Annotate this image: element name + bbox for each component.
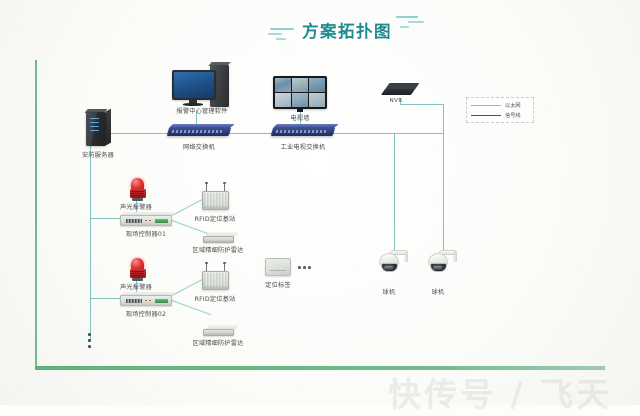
camera-glass [433,266,442,270]
video-wall-stand [297,109,303,112]
label-controller-2: 现场控制器02 [126,309,166,318]
label-security-server: 安防服务器 [82,150,114,159]
controller-port-panel [126,219,142,223]
label-camera-2: 球机 [432,287,445,296]
controller-port-panel [126,299,142,303]
label-radar-1: 区域精细防护雷达 [192,245,243,254]
legend-swatch-ethernet [471,105,501,106]
link-bus-to-controller-2 [90,298,122,299]
controller-led-1 [145,220,147,222]
controller-led-2 [149,300,151,302]
label-positioning-tag: 定位标签 [265,280,291,289]
rfid-antenna-cap-right [223,182,226,184]
camera-glass [384,266,393,270]
label-controller-1: 现场控制器01 [126,229,166,238]
controller-green-panel [155,219,168,223]
frame-bottom-border [35,366,605,370]
legend-item-signal: 信号线 [471,112,521,119]
radar-chassis-icon [203,236,234,243]
positioning-tag-strip [270,270,286,271]
label-tv-switch: 工业电视交换机 [281,142,326,151]
watermark: 快传号 / 飞天 [388,368,612,416]
link-bus-to-controller-1 [90,218,122,219]
controller-led-1 [145,300,147,302]
alarm-beacon-foot [132,278,143,281]
topology-diagram-canvas: 方案拓扑图 [0,0,640,405]
link-bus-to-nvr [443,104,444,134]
link-server-to-switch [108,133,174,134]
server-side-face [106,109,111,146]
label-radar-2: 区域精细防护雷达 [192,338,243,347]
tag-ellipsis [298,266,311,269]
controller-led-2 [149,220,151,222]
server-chassis-icon [86,112,106,146]
positioning-tag-icon [265,258,291,276]
link-bus-to-camera-2 [443,133,444,251]
rfid-heat-fins [204,273,228,286]
radar-chassis-icon [203,329,234,336]
link-bus-to-camera-1 [394,133,395,251]
label-video-wall: 电视墙 [290,113,309,122]
label-rfid-2: RFID定位基站 [195,294,236,303]
label-alarm-1: 声光报警器 [120,202,152,211]
link-left-vertical-bus [90,133,91,341]
paper-texture [0,0,640,405]
legend-label-ethernet: 以太网 [505,102,521,109]
alarm-beacon-grill [131,191,144,196]
rfid-antenna-cap-left [205,182,208,184]
legend-swatch-signal [471,115,501,117]
tvswitch-ports [276,130,329,133]
nvr-chassis-icon [381,89,415,95]
label-camera-1: 球机 [383,287,396,296]
controller-green-panel [155,299,168,303]
more-groups-ellipsis [88,333,91,348]
page-title: 方案拓扑图 [302,18,392,42]
alarm-beacon-grill [131,271,144,276]
legend-item-ethernet: 以太网 [471,102,521,109]
monitor-icon [172,70,216,100]
label-nvr: NVR [389,98,402,104]
switch-ports [172,130,225,133]
legend-box: 以太网 信号线 [466,97,534,123]
label-alarm-2: 声光报警器 [120,282,152,291]
alarm-beacon-foot [132,198,143,201]
frame-left-border [35,60,37,368]
link-tvswitch-right-bus [330,133,444,134]
page-title-block: 方案拓扑图 [268,14,438,48]
link-nvr-drop [400,104,444,105]
label-mgmt-software: 报警中心管理软件 [176,106,227,115]
video-wall-icon [273,76,327,109]
label-rfid-1: RFID定位基站 [195,214,236,223]
rfid-heat-fins [204,193,228,206]
label-network-switch: 网络交换机 [183,142,215,151]
legend-label-signal: 信号线 [505,112,521,119]
rfid-antenna-cap-left [205,262,208,264]
rfid-antenna-cap-right [223,262,226,264]
